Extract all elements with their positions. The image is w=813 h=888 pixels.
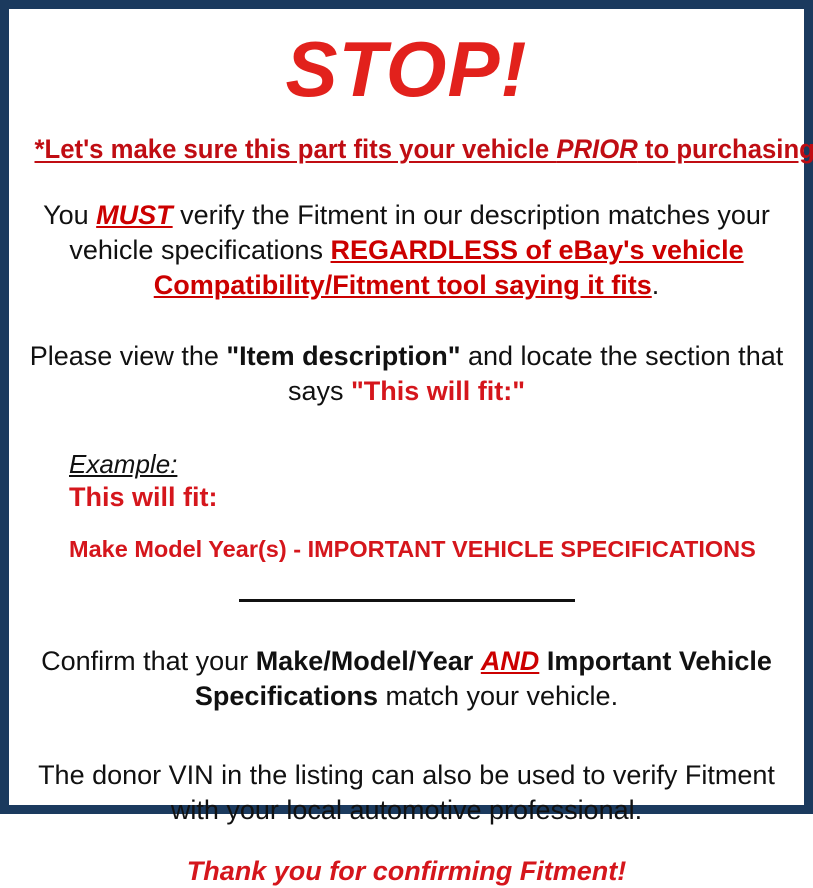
example-section: Example: This will fit: Make Model Year(… <box>23 449 790 563</box>
horizontal-divider <box>239 599 575 602</box>
stop-title: STOP! <box>23 23 790 115</box>
paragraph-item-description: Please view the "Item description" and l… <box>23 339 790 409</box>
subtitle-text-before: *Let's make sure this part fits your veh… <box>35 134 557 164</box>
paragraph-must-verify: You MUST verify the Fitment in our descr… <box>23 198 790 303</box>
example-label-row: Example: <box>69 449 790 479</box>
example-fit-line: This will fit: <box>69 481 790 513</box>
make-model-year-emphasis: Make/Model/Year <box>256 646 474 676</box>
paragraph-confirm: Confirm that your Make/Model/Year AND Im… <box>23 644 790 714</box>
item-description-emphasis: "Item description" <box>226 341 460 371</box>
item-text-1: Please view the <box>30 341 227 371</box>
confirm-text-1: Confirm that your <box>41 646 256 676</box>
example-spec-line: Make Model Year(s) - IMPORTANT VEHICLE S… <box>69 535 790 563</box>
this-will-fit-emphasis: "This will fit:" <box>351 376 525 406</box>
thanks-line: Thank you for confirming Fitment! <box>23 854 790 888</box>
paragraph-donor-vin: The donor VIN in the listing can also be… <box>23 758 790 828</box>
and-emphasis: AND <box>481 646 540 676</box>
must-text-1: You <box>43 200 96 230</box>
must-emphasis: MUST <box>96 200 173 230</box>
divider-row <box>23 592 790 610</box>
subtitle-banner: *Let's make sure this part fits your veh… <box>35 133 779 165</box>
confirm-text-2: match your vehicle. <box>378 681 618 711</box>
subtitle-text-after: to purchasing* <box>638 134 813 164</box>
fitment-notice-body: STOP! *Let's make sure this part fits yo… <box>9 9 804 805</box>
subtitle-emphasis-prior: PRIOR <box>556 134 637 164</box>
confirm-space-1 <box>473 646 481 676</box>
fitment-notice-frame: STOP! *Let's make sure this part fits yo… <box>0 0 813 814</box>
must-text-3: . <box>652 270 660 300</box>
example-label: Example: <box>69 449 177 479</box>
confirm-space-2 <box>539 646 547 676</box>
